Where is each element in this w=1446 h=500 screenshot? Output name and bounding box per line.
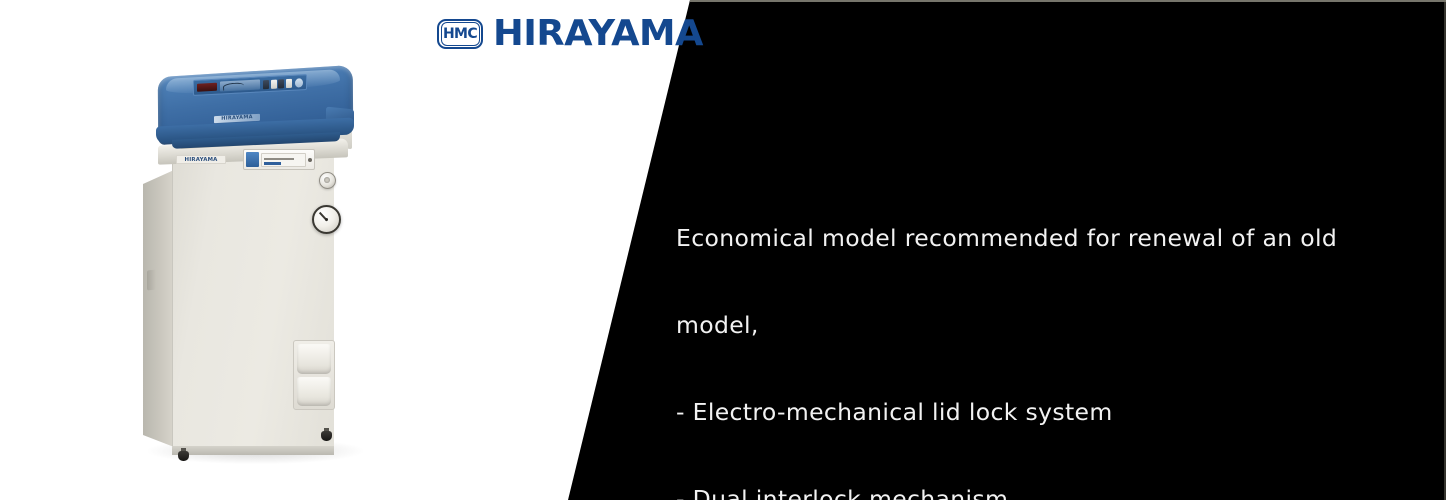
product-banner: HMC HIRAYAMA Economical model recommende…	[0, 0, 1446, 500]
description-line-3: - Electro-mechanical lid lock system	[676, 398, 1406, 427]
logo-wordmark: HIRAYAMA	[493, 16, 703, 52]
display-screen	[197, 83, 217, 92]
hirayama-logo[interactable]: HMC HIRAYAMA	[437, 14, 699, 54]
description-line-1: Economical model recommended for renewal…	[676, 224, 1406, 253]
keypad[interactable]	[263, 78, 292, 88]
cycle-graph-icon	[220, 79, 260, 91]
valve-port	[319, 172, 336, 189]
pressure-gauge	[312, 205, 341, 234]
product-image-autoclave: HIRAYAMA HIRAYAMA	[140, 60, 390, 470]
side-vent	[147, 269, 156, 290]
cabinet-bottom-shade	[172, 446, 334, 455]
indicator-strip	[261, 153, 306, 167]
key-2[interactable]	[271, 79, 277, 88]
panel-top-edge	[690, 0, 1446, 2]
cabinet-side-panel	[143, 170, 174, 447]
compartment-tray-lower[interactable]	[297, 377, 331, 407]
description-line-2: model,	[676, 311, 1406, 340]
status-led	[308, 158, 312, 162]
gauge-hub	[325, 218, 328, 221]
caster-front-left	[178, 448, 189, 461]
caster-front-right	[321, 428, 332, 441]
product-description: Economical model recommended for renewal…	[676, 166, 1406, 500]
power-button[interactable]	[295, 78, 303, 87]
lower-compartment[interactable]	[293, 340, 335, 410]
hmc-logo-mark-icon: HMC	[437, 19, 483, 49]
caster-wheel	[321, 431, 332, 441]
front-interlock-panel[interactable]	[243, 149, 315, 170]
key-4[interactable]	[286, 78, 292, 87]
logo-mark-text: HMC	[437, 19, 483, 49]
key-3[interactable]	[278, 79, 284, 88]
body-brand-label: HIRAYAMA	[176, 155, 226, 164]
interlock-button[interactable]	[246, 152, 259, 167]
caster-wheel	[178, 451, 189, 461]
compartment-tray-upper[interactable]	[297, 344, 331, 374]
key-1[interactable]	[263, 79, 269, 88]
description-line-4: - Dual interlock mechanism	[676, 485, 1406, 500]
